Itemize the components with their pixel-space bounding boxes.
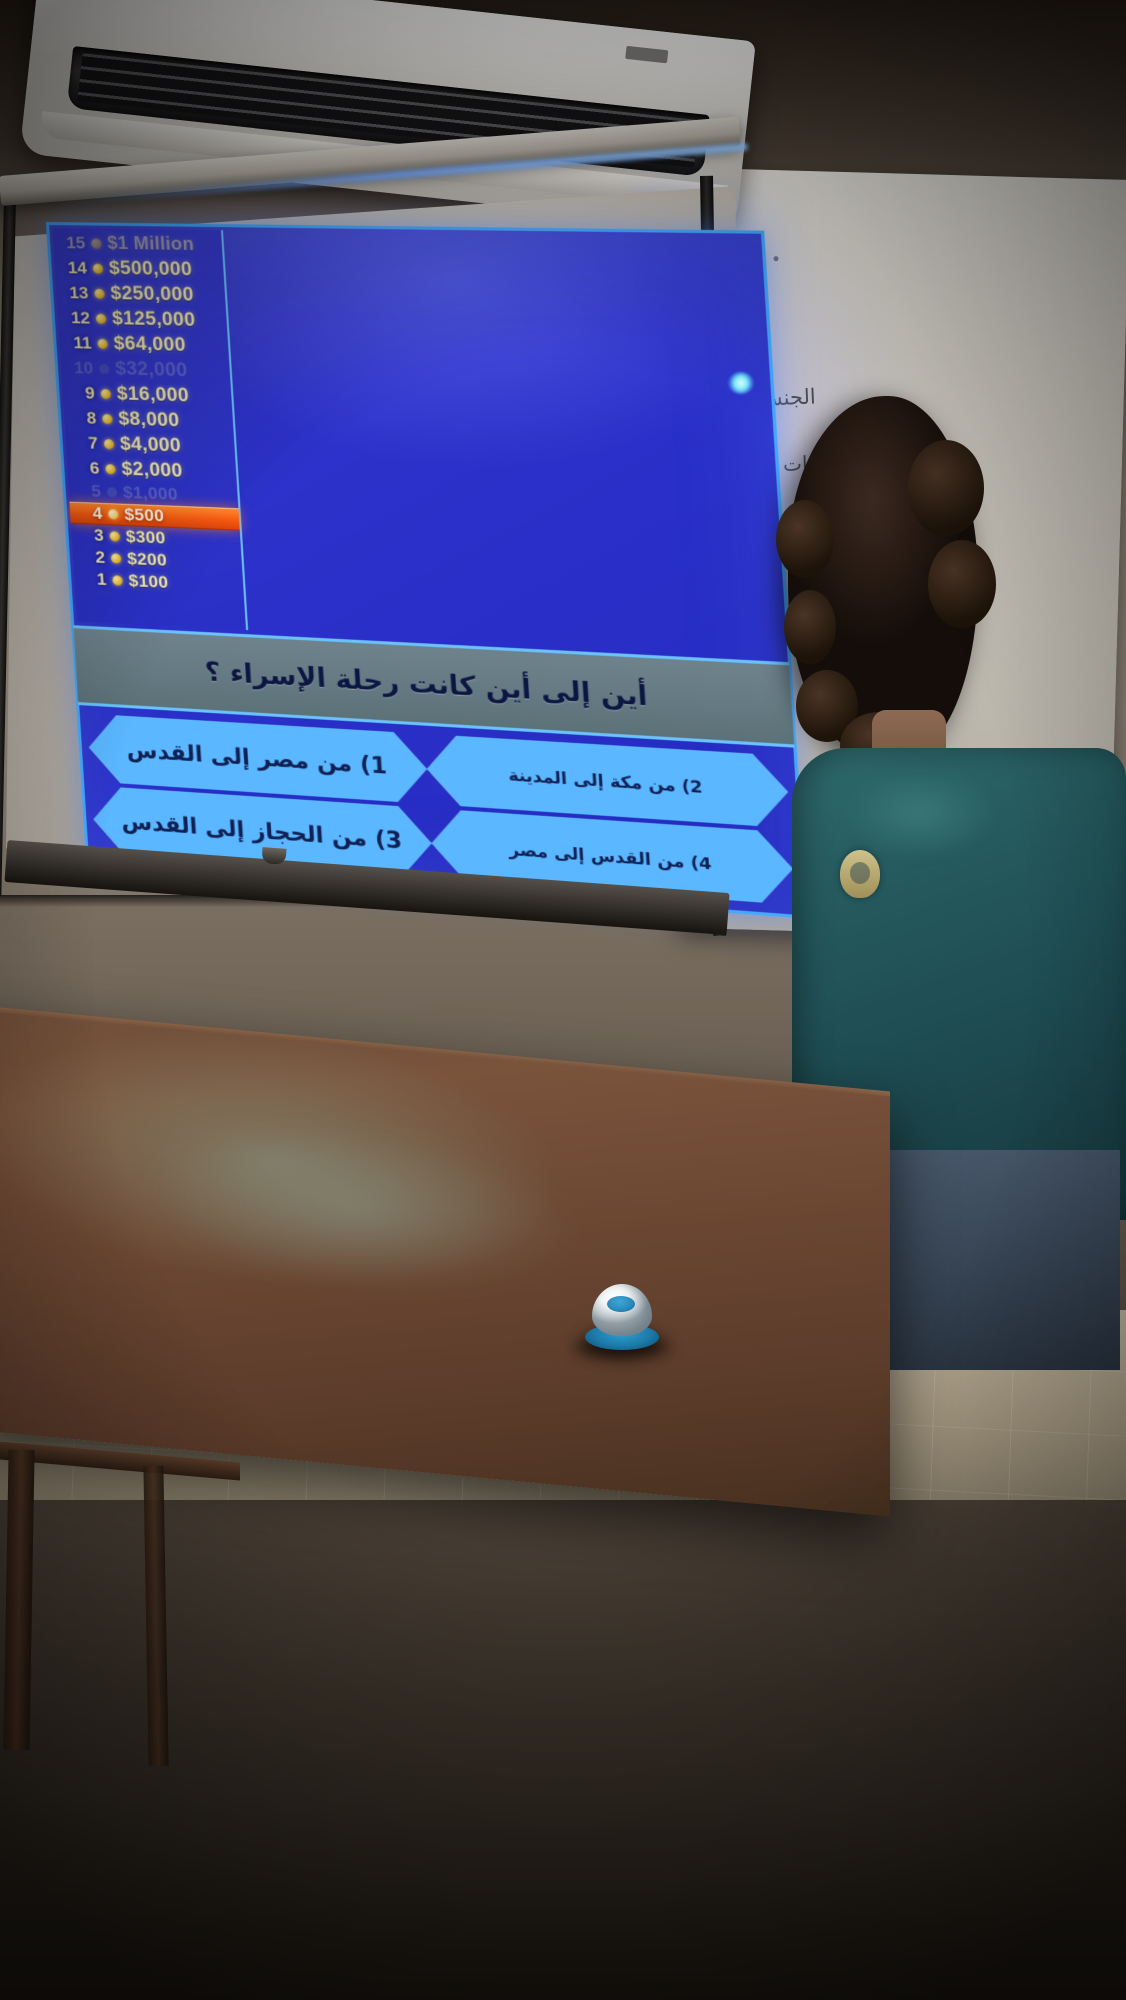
ladder-amount: $1 Million	[107, 233, 195, 255]
ladder-dot-icon	[93, 263, 104, 273]
hair-curl	[908, 440, 984, 536]
ladder-level-number: 7	[73, 432, 98, 453]
ladder-level-number: 9	[70, 383, 95, 404]
buzzer-bell[interactable]	[585, 1276, 659, 1350]
ladder-amount: $250,000	[110, 282, 195, 306]
ladder-amount: $300	[125, 527, 166, 549]
desk-leg-left	[3, 1450, 34, 1750]
ladder-row-15: 15$1 Million	[52, 230, 222, 258]
ladder-amount: $16,000	[116, 383, 189, 407]
ladder-dot-icon	[91, 238, 102, 248]
ladder-row-13: 13$250,000	[56, 280, 226, 308]
whiteboard-mark	[773, 256, 778, 261]
projector-hotspot	[728, 372, 754, 394]
ladder-level-number: 2	[80, 547, 105, 568]
ladder-dot-icon	[96, 313, 107, 323]
ladder-dot-icon	[104, 438, 115, 448]
ladder-amount: $500	[124, 505, 165, 527]
ladder-level-number: 1	[82, 569, 107, 590]
ladder-level-number: 10	[68, 358, 93, 379]
ladder-dot-icon	[97, 338, 108, 348]
ladder-amount: $32,000	[115, 358, 188, 382]
ladder-amount: $2,000	[121, 458, 183, 482]
ladder-level-number: 5	[76, 481, 101, 502]
ladder-dot-icon	[107, 487, 118, 497]
ladder-amount: $1,000	[122, 483, 178, 505]
ladder-amount: $500,000	[108, 257, 193, 281]
ladder-dot-icon	[112, 575, 123, 586]
hair-curl	[776, 500, 834, 578]
ladder-row-12: 12$125,000	[57, 305, 227, 334]
ladder-amount: $64,000	[113, 333, 186, 357]
ladder-level-number: 8	[72, 408, 97, 429]
ladder-level-number: 13	[64, 283, 89, 303]
ladder-level-number: 14	[62, 258, 87, 278]
ladder-amount: $4,000	[119, 433, 181, 457]
ladder-amount: $8,000	[118, 408, 180, 432]
ladder-amount: $125,000	[111, 308, 196, 332]
ladder-level-number: 15	[61, 233, 86, 253]
ladder-row-14: 14$500,000	[54, 255, 224, 283]
ladder-dot-icon	[109, 531, 120, 541]
ladder-dot-icon	[108, 509, 119, 519]
ladder-level-number: 4	[78, 503, 103, 524]
ladder-level-number: 3	[79, 525, 104, 546]
ladder-amount: $200	[127, 549, 168, 571]
floor-shadow	[0, 1500, 1126, 2000]
ladder-level-number: 11	[67, 333, 92, 354]
uniform-crest	[840, 850, 880, 898]
ladder-dot-icon	[94, 288, 105, 298]
hair-curl	[928, 540, 996, 628]
classroom-scene: الجنسي : النباتات والكائنات مجموعة الارض…	[0, 0, 1126, 2000]
ladder-dot-icon	[100, 388, 111, 398]
projected-slide: 15$1 Million14$500,00013$250,00012$125,0…	[48, 224, 805, 916]
slide-background: 15$1 Million14$500,00013$250,00012$125,0…	[48, 224, 805, 916]
ladder-amount: $100	[128, 571, 169, 593]
ladder-dot-icon	[105, 464, 116, 474]
ladder-dot-icon	[99, 363, 110, 373]
hair-curl	[784, 590, 836, 664]
question-text: أين إلى أين كانت رحلة الإسراء ؟	[188, 656, 667, 713]
money-ladder: 15$1 Million14$500,00013$250,00012$125,0…	[52, 228, 248, 630]
ladder-level-number: 12	[65, 308, 90, 329]
ladder-dot-icon	[111, 553, 122, 563]
ladder-dot-icon	[102, 413, 113, 423]
bell-ring	[607, 1296, 635, 1312]
ladder-level-number: 6	[75, 457, 100, 478]
